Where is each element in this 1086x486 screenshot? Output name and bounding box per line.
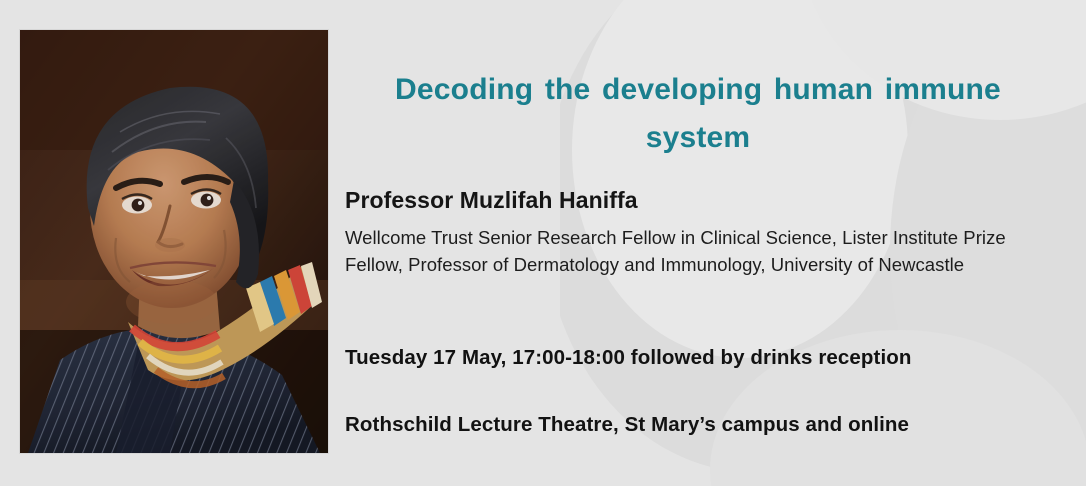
- event-datetime: Tuesday 17 May, 17:00-18:00 followed by …: [345, 344, 912, 372]
- event-venue: Rothschild Lecture Theatre, St Mary’s ca…: [345, 411, 909, 439]
- speaker-name: Professor Muzlifah Haniffa: [345, 185, 638, 215]
- speaker-photo: [20, 30, 328, 453]
- page-title: Decoding the developing human immune sys…: [345, 66, 1051, 162]
- speaker-affiliation: Wellcome Trust Senior Research Fellow in…: [345, 224, 1045, 278]
- event-poster: Decoding the developing human immune sys…: [0, 0, 1086, 486]
- poster-text-column: Decoding the developing human immune sys…: [345, 0, 1051, 486]
